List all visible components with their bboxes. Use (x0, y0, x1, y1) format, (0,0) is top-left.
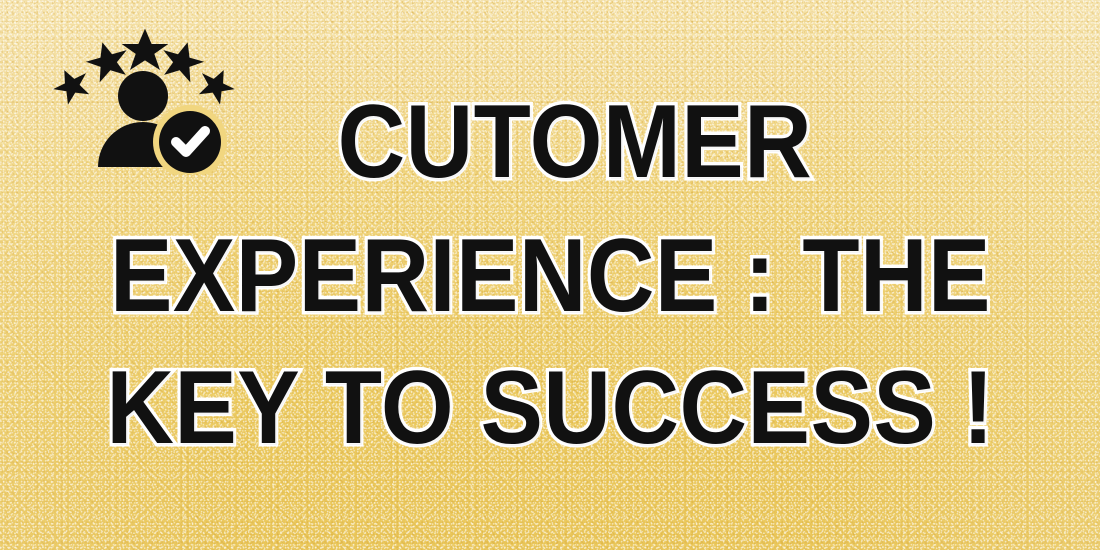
check-badge (153, 105, 227, 174)
customer-satisfaction-icon (50, 24, 240, 174)
customer-experience-banner: CUTOMER EXPERIENCE : THE KEY TO SUCCESS … (0, 0, 1100, 550)
